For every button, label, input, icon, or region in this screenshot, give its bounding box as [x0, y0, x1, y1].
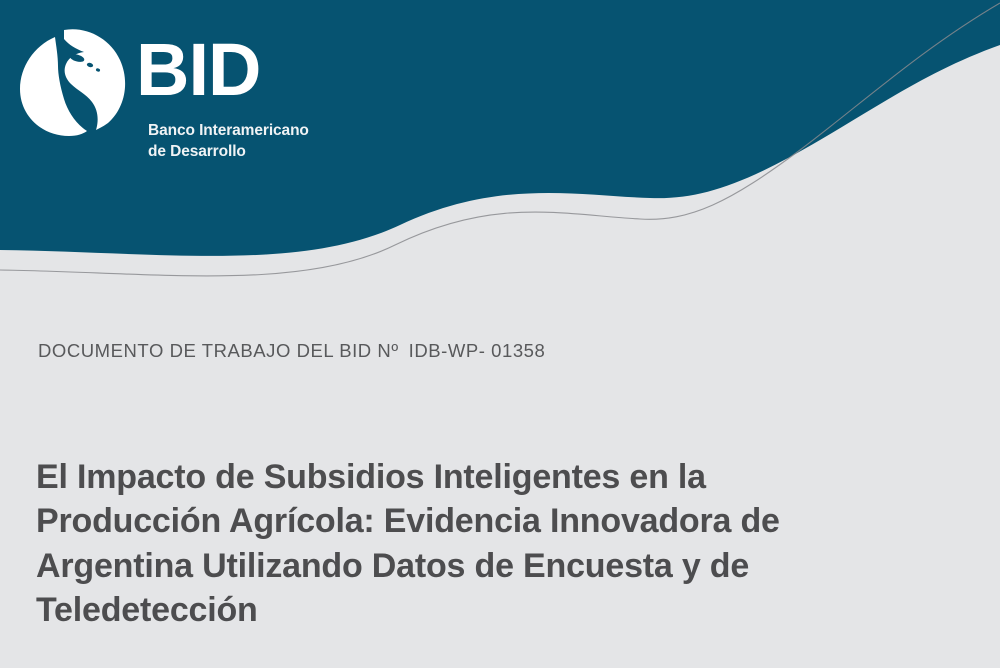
document-series-number: DOCUMENTO DE TRABAJO DEL BID NºIDB-WP- 0…: [38, 340, 545, 362]
document-series-label: DOCUMENTO DE TRABAJO DEL BID Nº: [38, 340, 399, 361]
title-line-4: Teledetección: [36, 588, 936, 633]
cover-page: BID Banco Interamericano de Desarrollo D…: [0, 0, 1000, 668]
bid-wordmark: BID: [136, 40, 260, 101]
bid-globe-icon: [14, 24, 132, 142]
bid-tagline-line-2: de Desarrollo: [148, 142, 309, 163]
title-line-1: El Impacto de Subsidios Inteligentes en …: [36, 455, 936, 500]
bid-tagline-line-1: Banco Interamericano: [148, 121, 309, 142]
title-line-2: Producción Agrícola: Evidencia Innovador…: [36, 499, 936, 544]
title-line-3: Argentina Utilizando Datos de Encuesta y…: [36, 544, 936, 589]
bid-tagline: Banco Interamericano de Desarrollo: [148, 121, 309, 162]
bid-logo-lockup: BID Banco Interamericano de Desarrollo: [14, 24, 374, 164]
page-title: El Impacto de Subsidios Inteligentes en …: [36, 455, 936, 633]
document-number-value: IDB-WP- 01358: [409, 340, 546, 361]
